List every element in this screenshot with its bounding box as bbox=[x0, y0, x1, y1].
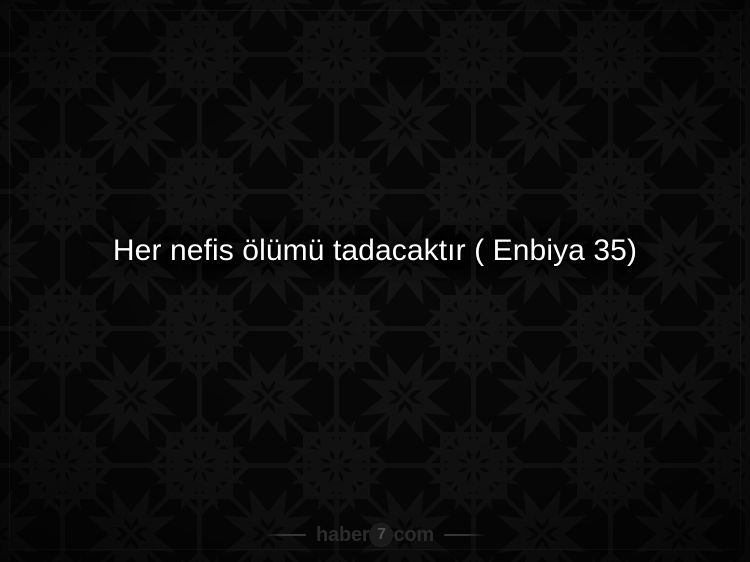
islamic-pattern-background bbox=[0, 0, 750, 562]
quote-card: Her nefis ölümü tadacaktır ( Enbiya 35) … bbox=[0, 0, 750, 562]
quote-container: Her nefis ölümü tadacaktır ( Enbiya 35) bbox=[0, 232, 750, 270]
quote-text: Her nefis ölümü tadacaktır ( Enbiya 35) bbox=[113, 232, 637, 270]
